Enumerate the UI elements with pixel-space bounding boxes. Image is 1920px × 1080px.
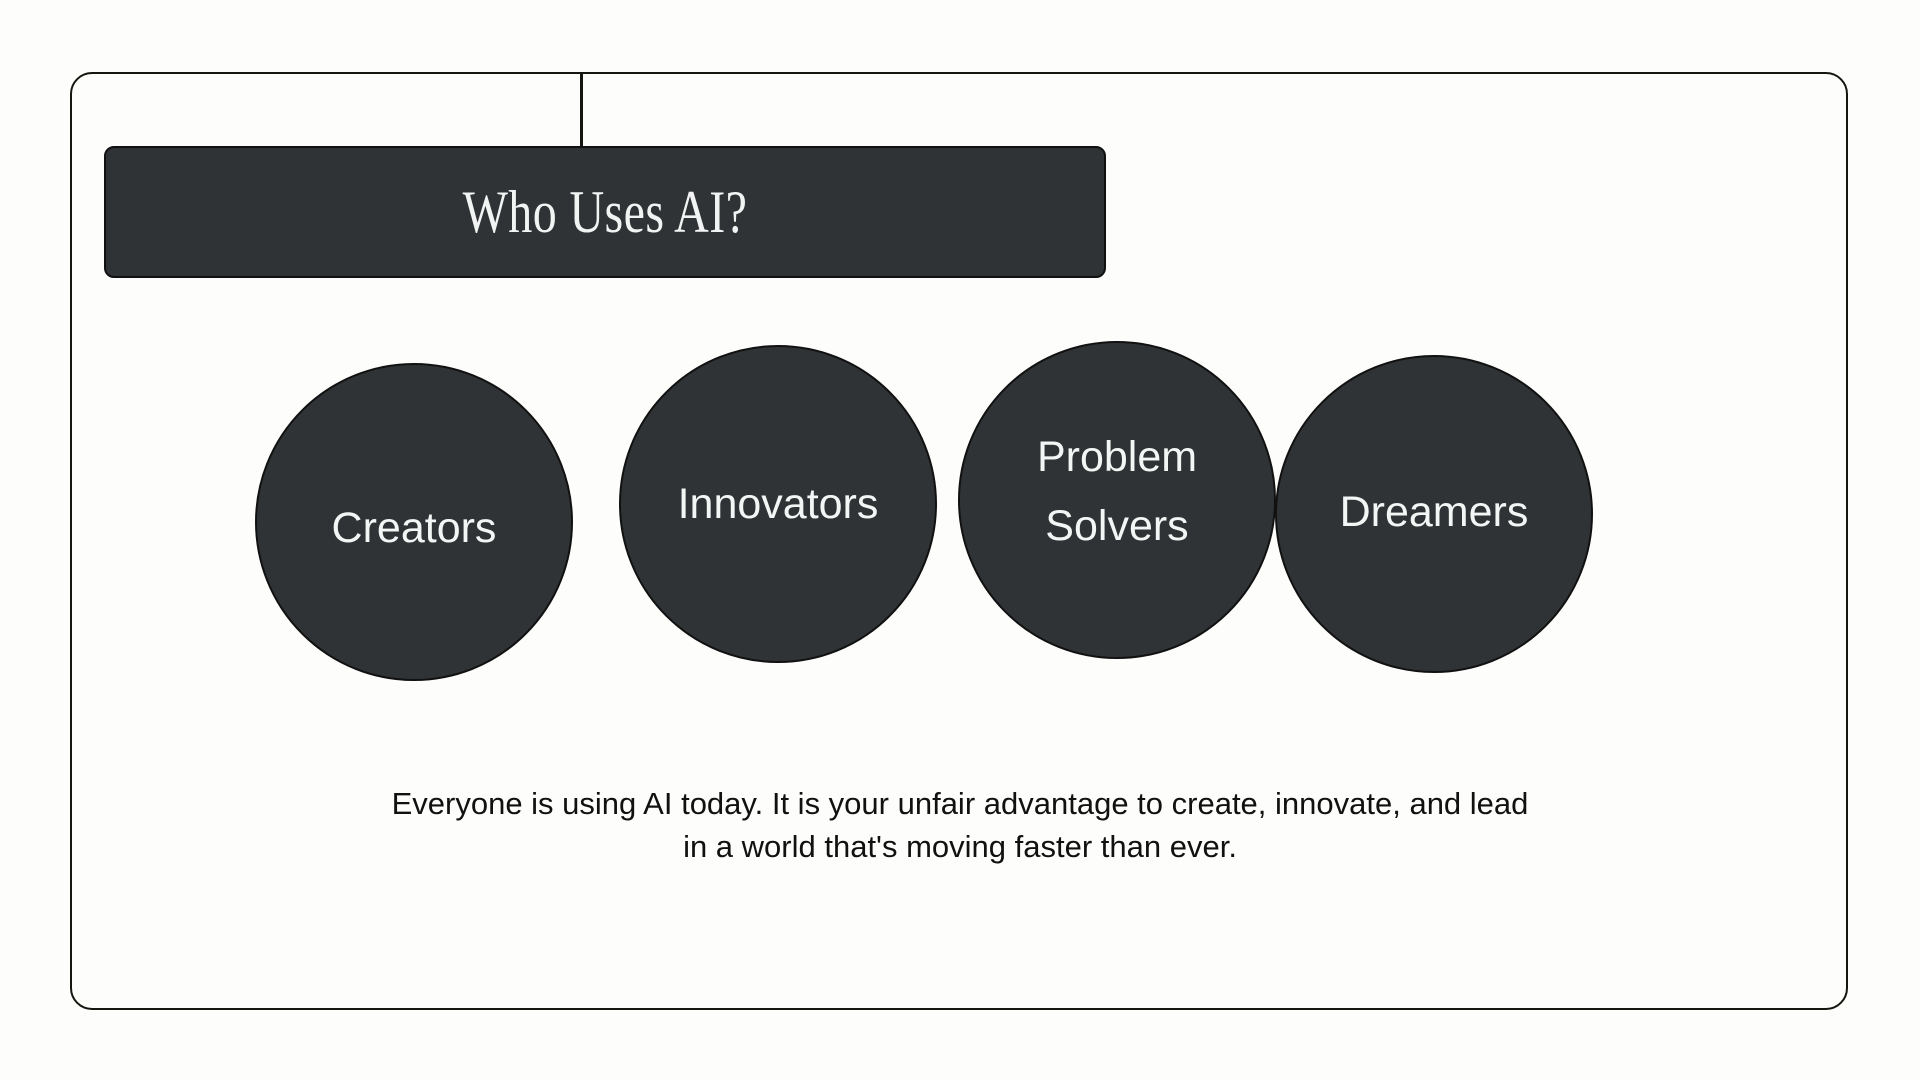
audience-node-label: Innovators [666, 483, 891, 526]
label-line: Solvers [1037, 505, 1197, 548]
caption-line-2: in a world that's moving faster than eve… [310, 826, 1610, 869]
label-line: Creators [332, 507, 497, 550]
audience-node-label: Creators [320, 507, 509, 550]
audience-node-dreamers[interactable]: Dreamers [1275, 355, 1593, 673]
page-title: Who Uses AI? [463, 182, 748, 242]
label-line: Dreamers [1340, 491, 1529, 534]
title-plate[interactable]: Who Uses AI? [104, 146, 1106, 278]
audience-node-label: Problem Solvers [1025, 436, 1209, 548]
audience-node-problem-solvers[interactable]: Problem Solvers [958, 341, 1276, 659]
label-line: Problem [1037, 436, 1197, 479]
audience-circle-row: Creators Innovators Problem Solvers Drea… [255, 345, 1715, 670]
caption-line-1: Everyone is using AI today. It is your u… [310, 783, 1610, 826]
caption-text: Everyone is using AI today. It is your u… [310, 783, 1610, 869]
title-connector-line [580, 73, 583, 148]
audience-node-innovators[interactable]: Innovators [619, 345, 937, 663]
audience-node-creators[interactable]: Creators [255, 363, 573, 681]
slide-canvas: Who Uses AI? Creators Innovators Problem… [0, 0, 1920, 1080]
audience-node-label: Dreamers [1328, 491, 1541, 534]
label-line: Innovators [678, 483, 879, 526]
